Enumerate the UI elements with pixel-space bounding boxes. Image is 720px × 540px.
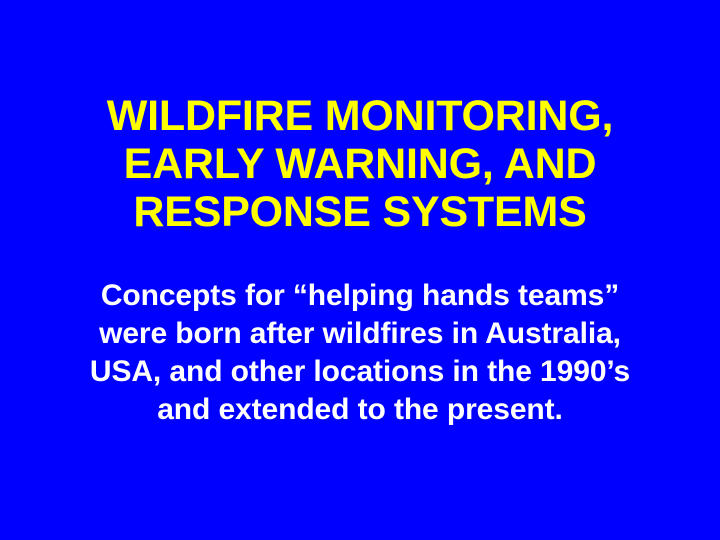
slide-body-text: Concepts for “helping hands teams” were … bbox=[0, 277, 720, 429]
body-line-4: and extended to the present. bbox=[0, 391, 720, 429]
title-line-3: RESPONSE SYSTEMS bbox=[0, 188, 720, 236]
title-line-2: EARLY WARNING, AND bbox=[0, 140, 720, 188]
title-line-1: WILDFIRE MONITORING, bbox=[0, 92, 720, 140]
body-line-2: were born after wildfires in Australia, bbox=[0, 315, 720, 353]
slide-title: WILDFIRE MONITORING, EARLY WARNING, AND … bbox=[0, 92, 720, 236]
body-line-3: USA, and other locations in the 1990’s bbox=[0, 353, 720, 391]
presentation-slide: WILDFIRE MONITORING, EARLY WARNING, AND … bbox=[0, 0, 720, 540]
body-line-1: Concepts for “helping hands teams” bbox=[0, 277, 720, 315]
